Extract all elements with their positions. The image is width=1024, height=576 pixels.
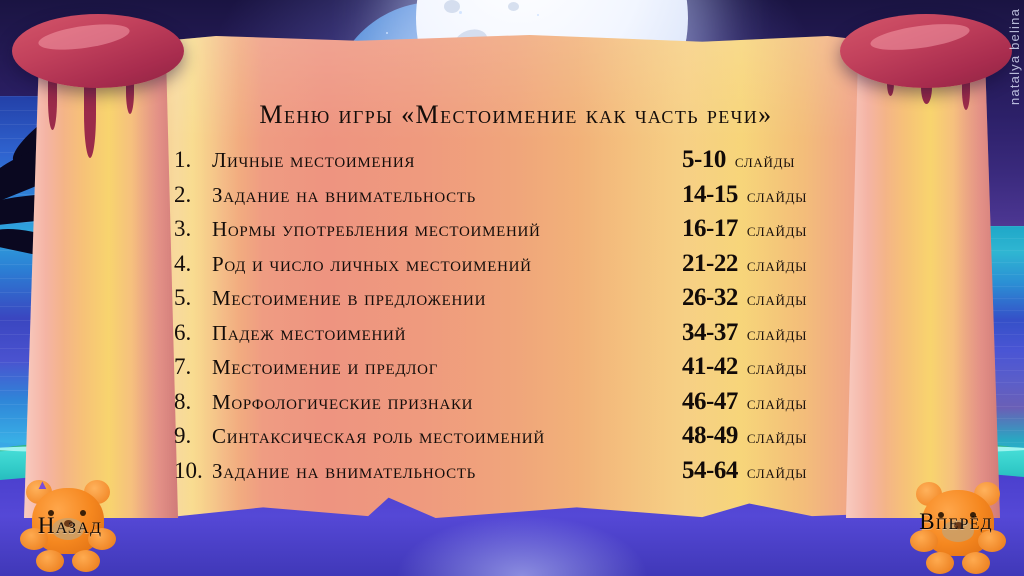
menu-item-slide-unit: слайды	[747, 220, 807, 241]
menu-item-number: 9.	[174, 423, 212, 449]
menu-item[interactable]: 3.Нормы употребления местоимений16-17сла…	[174, 215, 864, 250]
menu-item-label: Задание на внимательность	[212, 183, 682, 208]
author-watermark: natalya belina	[1007, 8, 1022, 105]
scroll-panel: Меню игры «Местоимение как часть речи» 1…	[0, 0, 1024, 576]
menu-item-slide-range: 34-37	[682, 319, 738, 347]
menu-item-slides: 26-32слайды	[682, 284, 864, 312]
menu-item-slide-range: 48-49	[682, 422, 738, 450]
menu-item-slide-unit: слайды	[747, 289, 807, 310]
back-button-label: Назад	[38, 513, 102, 539]
menu-item-label: Морфологические признаки	[212, 390, 682, 415]
menu-item-slide-range: 21-22	[682, 250, 738, 278]
menu-item-slide-range: 41-42	[682, 353, 738, 381]
menu-item-slides: 34-37слайды	[682, 319, 864, 347]
menu-item-number: 6.	[174, 320, 212, 346]
menu-item-label: Синтаксическая роль местоимений	[212, 424, 682, 449]
menu-item[interactable]: 6.Падеж местоимений34-37слайды	[174, 319, 864, 354]
menu-item-slide-unit: слайды	[747, 324, 807, 345]
menu-item-slides: 14-15слайды	[682, 181, 864, 209]
menu-item-slide-unit: слайды	[747, 427, 807, 448]
menu-item-slides: 16-17слайды	[682, 215, 864, 243]
menu-list: 1.Личные местоимения5-10слайды2.Задание …	[174, 146, 864, 491]
menu-item-slide-unit: слайды	[735, 151, 795, 172]
menu-item[interactable]: 9.Синтаксическая роль местоимений48-49сл…	[174, 422, 864, 457]
menu-item-slides: 5-10слайды	[682, 146, 864, 174]
menu-item[interactable]: 1.Личные местоимения5-10слайды	[174, 146, 864, 181]
menu-item-number: 1.	[174, 147, 212, 173]
menu-item[interactable]: 7.Местоимение и предлог41-42слайды	[174, 353, 864, 388]
menu-item[interactable]: 10.Задание на внимательность54-64слайды	[174, 457, 864, 492]
menu-item-label: Род и число личных местоимений	[212, 252, 682, 277]
bear-paw	[36, 550, 64, 572]
menu-item-slides: 48-49слайды	[682, 422, 864, 450]
menu-item-slides: 54-64слайды	[682, 457, 864, 485]
bear-paw	[926, 552, 954, 574]
menu-item-number: 10.	[174, 458, 212, 484]
menu-item-slide-unit: слайды	[747, 393, 807, 414]
menu-item-number: 4.	[174, 251, 212, 277]
menu-item-slide-unit: слайды	[747, 255, 807, 276]
forward-button[interactable]: Вперёд	[896, 472, 1020, 576]
menu-item[interactable]: 2.Задание на внимательность14-15слайды	[174, 181, 864, 216]
forward-button-label: Вперёд	[919, 509, 992, 535]
menu-item-label: Задание на внимательность	[212, 459, 682, 484]
scroll-cap-highlight	[869, 19, 971, 55]
menu-item-label: Падеж местоимений	[212, 321, 682, 346]
menu-item-slide-range: 54-64	[682, 457, 738, 485]
bird-icon: ▲	[36, 478, 50, 488]
menu-item-slide-unit: слайды	[747, 186, 807, 207]
menu-item-number: 8.	[174, 389, 212, 415]
bear-paw	[72, 550, 100, 572]
bear-paw	[962, 552, 990, 574]
menu-item-number: 5.	[174, 285, 212, 311]
menu-item[interactable]: 8.Морфологические признаки46-47слайды	[174, 388, 864, 423]
menu-item-slides: 41-42слайды	[682, 353, 864, 381]
menu-item-slide-range: 26-32	[682, 284, 738, 312]
menu-item-slide-unit: слайды	[747, 462, 807, 483]
page-title: Меню игры «Местоимение как часть речи»	[152, 100, 880, 130]
menu-item-slide-range: 5-10	[682, 146, 726, 174]
menu-item-label: Личные местоимения	[212, 148, 682, 173]
scroll-cap-highlight	[37, 20, 131, 55]
menu-item[interactable]: 4.Род и число личных местоимений21-22сла…	[174, 250, 864, 285]
menu-item-label: Нормы употребления местоимений	[212, 217, 682, 242]
menu-item-number: 3.	[174, 216, 212, 242]
menu-item-slides: 21-22слайды	[682, 250, 864, 278]
menu-item[interactable]: 5.Местоимение в предложении26-32слайды	[174, 284, 864, 319]
menu-item-slide-range: 14-15	[682, 181, 738, 209]
slide-canvas: Меню игры «Местоимение как часть речи» 1…	[0, 0, 1024, 576]
menu-item-number: 2.	[174, 182, 212, 208]
back-button[interactable]: Назад	[6, 470, 130, 574]
menu-item-slides: 46-47слайды	[682, 388, 864, 416]
menu-item-label: Местоимение и предлог	[212, 355, 682, 380]
menu-item-label: Местоимение в предложении	[212, 286, 682, 311]
menu-content: Меню игры «Местоимение как часть речи» 1…	[152, 44, 880, 504]
menu-item-slide-range: 46-47	[682, 388, 738, 416]
menu-item-number: 7.	[174, 354, 212, 380]
menu-item-slide-unit: слайды	[747, 358, 807, 379]
menu-item-slide-range: 16-17	[682, 215, 738, 243]
